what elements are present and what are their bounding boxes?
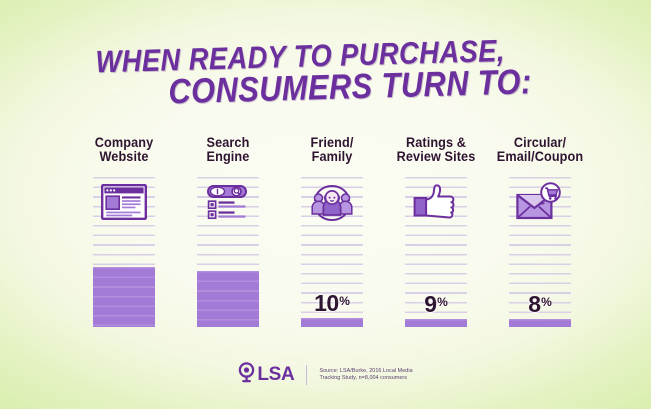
page-title: WHEN READY TO PURCHASE, CONSUMERS TURN T… (0, 29, 651, 119)
search-results-icon (197, 180, 259, 224)
column-heading: Company Website (75, 136, 173, 163)
envelope-cart-icon (509, 180, 571, 224)
column-heading-line-2: Email/Coupon (491, 150, 589, 164)
column-heading: Friend/ Family (283, 136, 381, 163)
column-heading: Circular/ Email/Coupon (491, 136, 589, 163)
chart-column-circular-email-coupon: Circular/ Email/Coupon 8% (488, 136, 592, 336)
value-symbol: % (541, 295, 552, 309)
chart-column-search-engine: Search Engine (176, 136, 280, 336)
source-line-2: Tracking Study, n=8,004 consumers (319, 375, 412, 382)
infographic-poster: WHEN READY TO PURCHASE, CONSUMERS TURN T… (0, 0, 651, 409)
value-symbol: % (437, 295, 448, 309)
value-label: 9% (424, 291, 447, 318)
lsa-logo-text: LSA (257, 364, 294, 386)
value-bar (197, 271, 259, 327)
value-number: 10 (314, 290, 339, 316)
column-heading-line-2: Review Sites (387, 150, 485, 164)
value-label: 10% (314, 290, 350, 317)
source-line-1: Source: LSA/Burke, 2016 Local Media (319, 368, 412, 374)
column-heading-line-2: Website (75, 150, 173, 164)
chart-column-company-website: Company Website (72, 136, 176, 336)
chart-column-friend-family: Friend/ Family (280, 136, 384, 336)
column-heading-line-2: Family (283, 150, 381, 164)
column-heading-line-1: Ratings & (406, 135, 466, 150)
column-heading-line-2: Engine (179, 150, 277, 164)
column-heading: Ratings & Review Sites (387, 136, 485, 163)
value-bar (301, 318, 363, 327)
source-citation: Source: LSA/Burke, 2016 Local Media Trac… (319, 368, 412, 383)
footer: LSA Source: LSA/Burke, 2016 Local Media … (0, 358, 651, 392)
value-bar (405, 319, 467, 327)
bar-chart: Company Website (72, 136, 592, 336)
value-bar (509, 319, 571, 327)
column-heading-line-1: Company (95, 135, 153, 150)
lsa-pin-icon (238, 362, 255, 388)
value-number: 8 (528, 291, 540, 317)
value-label: 8% (528, 291, 551, 318)
value-number: 9 (424, 291, 436, 317)
value-bar (93, 267, 155, 327)
column-heading-line-1: Friend/ (311, 135, 354, 150)
lsa-logo: LSA (238, 362, 294, 388)
browser-window-icon (93, 180, 155, 224)
thumbs-up-icon (405, 180, 467, 224)
value-symbol: % (339, 294, 350, 308)
column-heading: Search Engine (179, 136, 277, 163)
chart-column-ratings-review-sites: Ratings & Review Sites 9% (384, 136, 488, 336)
footer-divider (306, 365, 307, 385)
column-heading-line-1: Circular/ (514, 135, 566, 150)
column-heading-line-1: Search (207, 135, 250, 150)
people-group-icon (301, 180, 363, 224)
